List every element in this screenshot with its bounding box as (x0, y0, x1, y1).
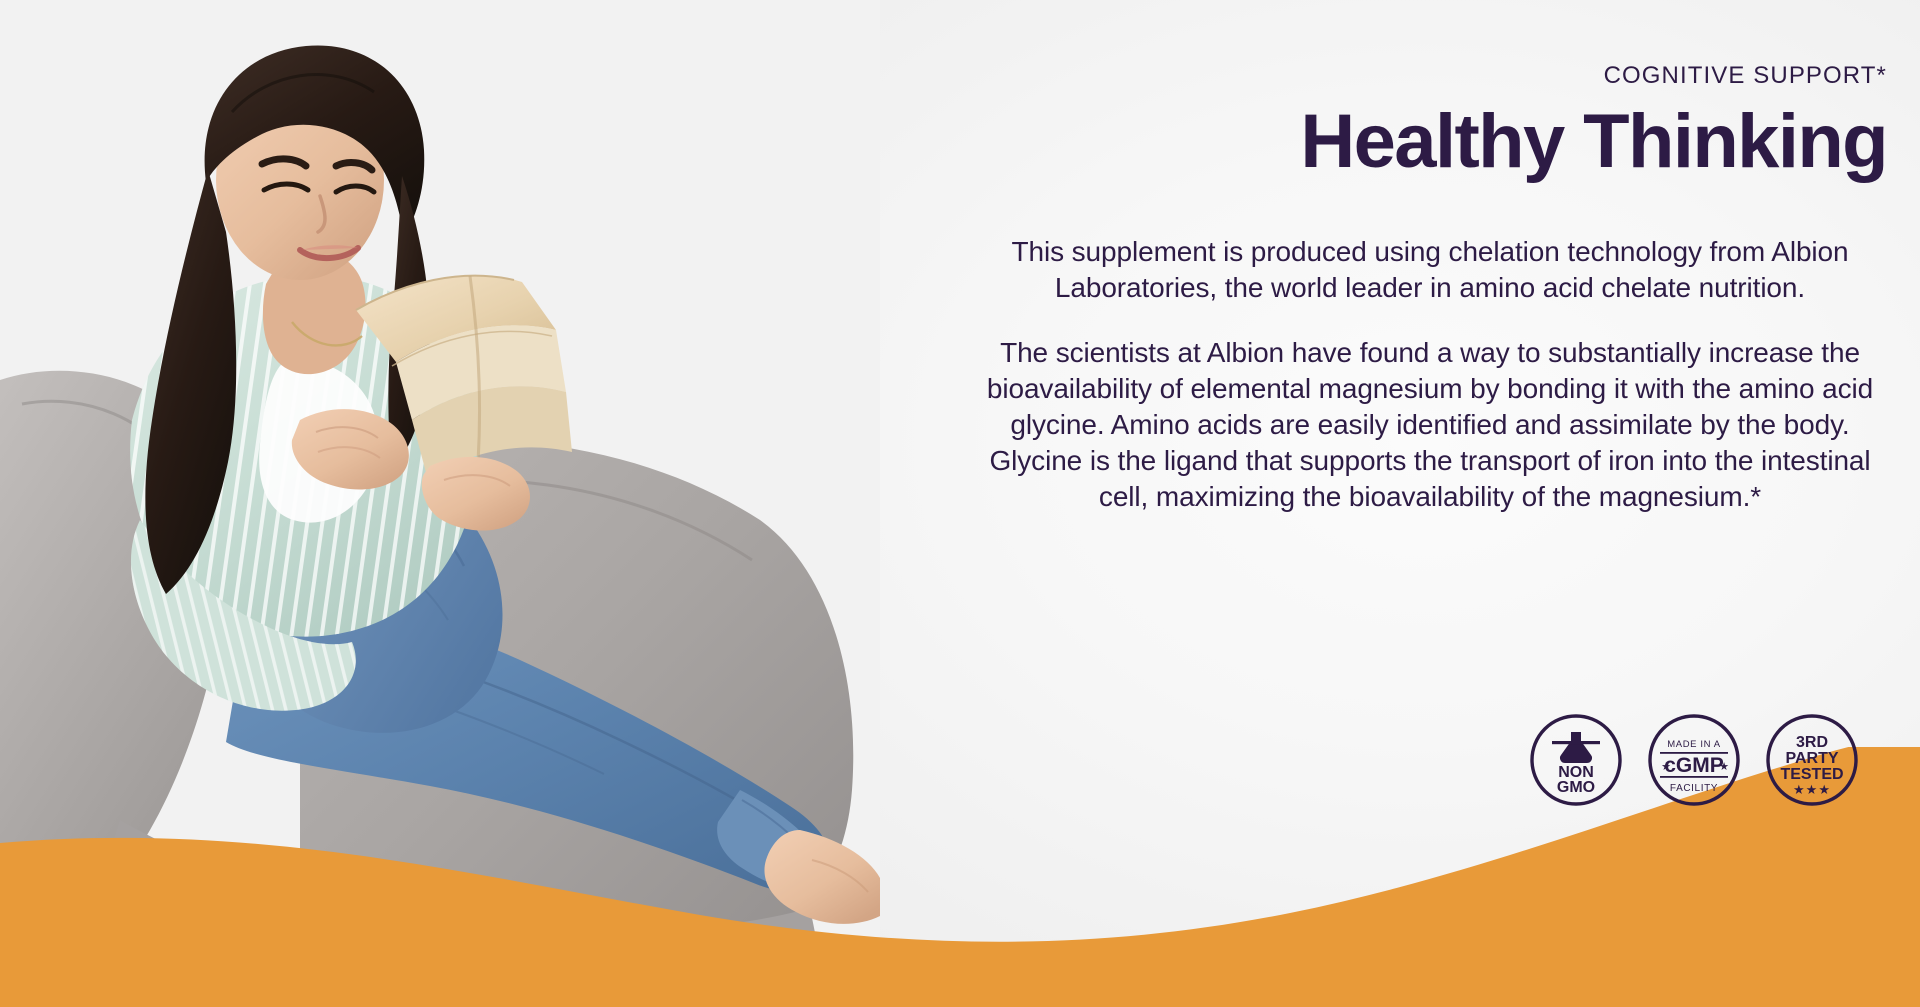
badge-line-3: FACILITY (1670, 783, 1718, 794)
copy-column: COGNITIVE SUPPORT* Healthy Thinking This… (585, 62, 1920, 515)
badge-divider-bottom (1660, 776, 1728, 778)
badge-line-2: cGMP (1664, 754, 1724, 777)
badge-cgmp: MADE IN A ★ cGMP ★ FACILITY (1646, 712, 1742, 808)
badge-line-2: PARTY (1785, 750, 1838, 767)
page-title: Healthy Thinking (585, 102, 1890, 182)
badge-line-1: 3RD (1796, 734, 1828, 751)
badge-non-gmo: NON GMO (1528, 712, 1624, 808)
paragraph-one: This supplement is produced using chelat… (970, 234, 1890, 306)
flask-icon (1552, 732, 1600, 763)
badge-line-2: GMO (1557, 779, 1595, 796)
paragraph-two: The scientists at Albion have found a wa… (970, 335, 1890, 514)
badge-line-1: MADE IN A (1667, 739, 1721, 750)
certification-badges: NON GMO MADE IN A ★ cGMP ★ FACILITY 3RD (1528, 712, 1860, 808)
eyebrow-text: COGNITIVE SUPPORT* (585, 62, 1890, 90)
body-copy: This supplement is produced using chelat… (970, 234, 1890, 515)
badge-star-right: ★ (1719, 761, 1729, 773)
badge-line-3: TESTED (1780, 766, 1843, 783)
promotional-banner: COGNITIVE SUPPORT* Healthy Thinking This… (0, 0, 1920, 1007)
badge-stars: ★★★ (1793, 782, 1831, 797)
badge-third-party-tested: 3RD PARTY TESTED ★★★ (1764, 712, 1860, 808)
